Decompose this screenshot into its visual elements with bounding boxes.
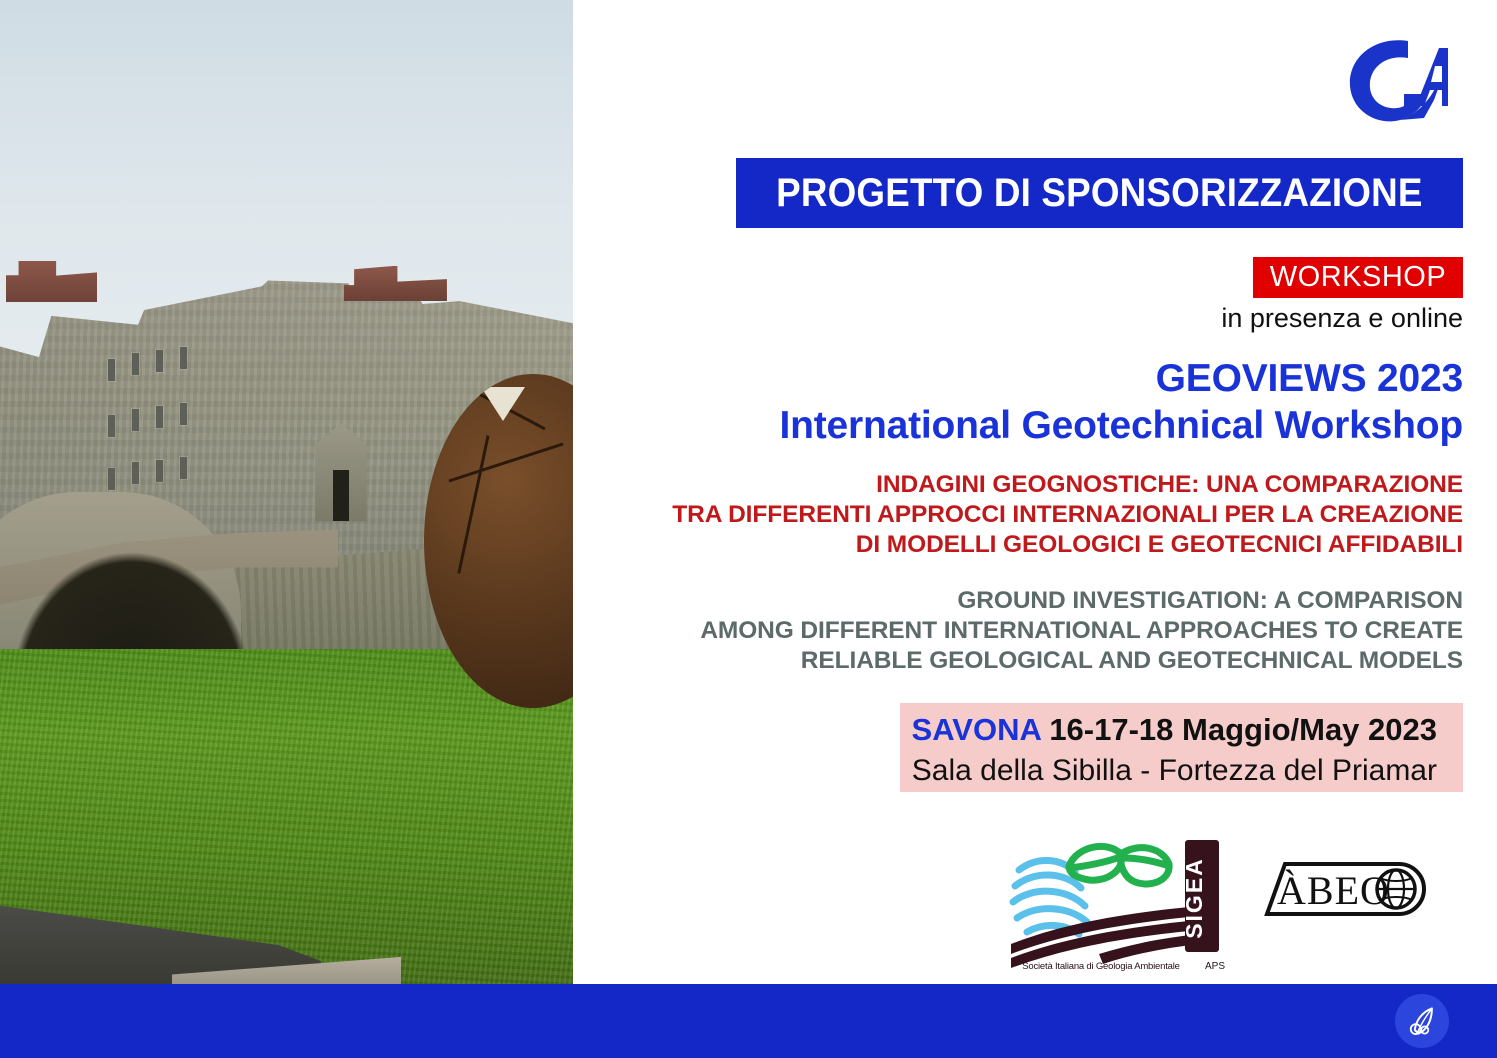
venue-dates: 16-17-18 Maggio/May 2023 xyxy=(1041,712,1437,747)
attendance-mode-label: in presenza e online xyxy=(573,303,1463,334)
footer-bar xyxy=(0,984,1497,1058)
sponsorship-banner: PROGETTO DI SPONSORIZZAZIONE xyxy=(736,158,1463,228)
banner-title: PROGETTO DI SPONSORIZZAZIONE xyxy=(776,171,1422,216)
event-name: GEOVIEWS 2023 xyxy=(573,356,1463,402)
fortress-photo xyxy=(0,0,573,984)
poster-content: PROGETTO DI SPONSORIZZAZIONE WORKSHOP in… xyxy=(573,0,1497,984)
event-title-block: GEOVIEWS 2023 International Geotechnical… xyxy=(573,356,1463,450)
workshop-badge-label: WORKSHOP xyxy=(1270,261,1446,294)
ga-monogram-icon xyxy=(1338,32,1450,130)
subtitle-italian-line-2: TRA DIFFERENTI APPROCCI INTERNAZIONALI P… xyxy=(573,500,1463,530)
subtitle-english: GROUND INVESTIGATION: A COMPARISON AMONG… xyxy=(573,586,1463,676)
photo-windows xyxy=(97,344,269,492)
subtitle-italian-line-1: INDAGINI GEOGNOSTICHE: UNA COMPARAZIONE xyxy=(573,470,1463,500)
sigea-caption: Società Italiana di Geologia Ambientale xyxy=(1003,961,1199,972)
venue-date-line: SAVONA 16-17-18 Maggio/May 2023 xyxy=(900,709,1437,751)
subtitle-italian-line-3: DI MODELLI GEOLOGICI E GEOTECNICI AFFIDA… xyxy=(573,530,1463,560)
abeo-logo: ÀBEO xyxy=(1259,856,1434,922)
sigea-logo: SIGEA Società Italiana di Geologia Ambie… xyxy=(1003,832,1225,974)
subtitle-italian: INDAGINI GEOGNOSTICHE: UNA COMPARAZIONE … xyxy=(573,470,1463,560)
venue-date-box: SAVONA 16-17-18 Maggio/May 2023 Sala del… xyxy=(900,703,1463,792)
quill-pen-icon xyxy=(1395,994,1449,1048)
abeo-wordmark: ÀBEO xyxy=(1277,868,1390,913)
sigea-wordmark: SIGEA xyxy=(1181,857,1207,939)
subtitle-english-line-3: RELIABLE GEOLOGICAL AND GEOTECHNICAL MOD… xyxy=(573,646,1463,676)
venue-city: SAVONA xyxy=(912,712,1041,747)
partner-logos: SIGEA Società Italiana di Geologia Ambie… xyxy=(1003,832,1463,977)
venue-place: Sala della Sibilla - Fortezza del Priama… xyxy=(900,751,1437,791)
event-subtitle: International Geotechnical Workshop xyxy=(573,402,1463,450)
sigea-aps-label: APS xyxy=(1205,961,1225,972)
workshop-badge: WORKSHOP xyxy=(1253,257,1463,298)
subtitle-english-line-1: GROUND INVESTIGATION: A COMPARISON xyxy=(573,586,1463,616)
sponsorship-poster: PROGETTO DI SPONSORIZZAZIONE WORKSHOP in… xyxy=(0,0,1497,1058)
subtitle-english-line-2: AMONG DIFFERENT INTERNATIONAL APPROACHES… xyxy=(573,616,1463,646)
